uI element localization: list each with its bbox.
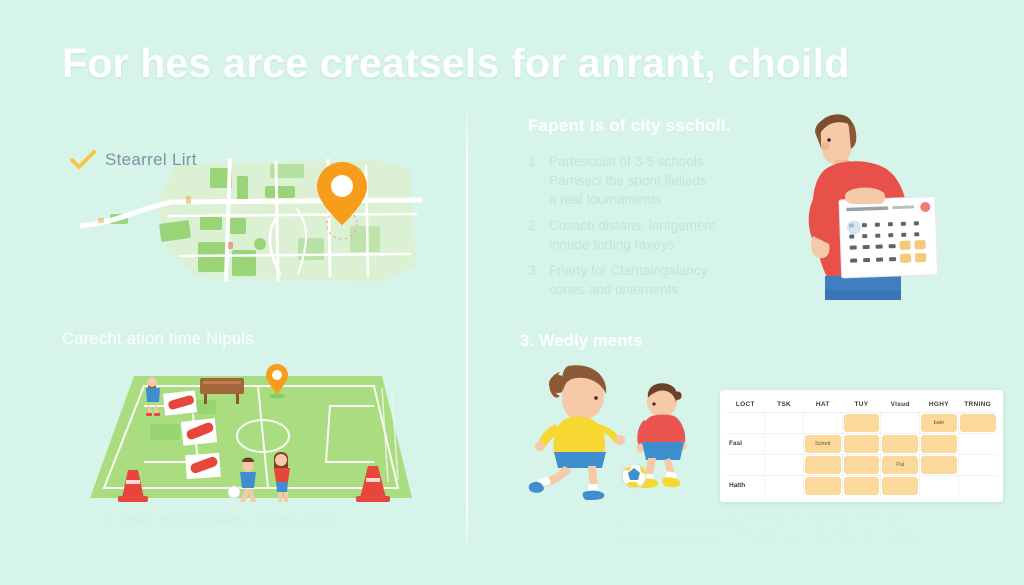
table-cell bbox=[842, 412, 881, 433]
table-body: baleFaslSchettPalHalth bbox=[726, 412, 997, 496]
column-divider bbox=[466, 112, 468, 550]
table-cell bbox=[803, 454, 842, 475]
table-cell: Fasl bbox=[726, 433, 765, 454]
table-header-row: LOCT TSK HAT TUY Visud HGHY TRNING bbox=[726, 397, 997, 412]
cell-block bbox=[921, 435, 957, 453]
table-cell bbox=[765, 475, 804, 496]
schools-panel: Fapent ls of city sscholl. 1. Partescois… bbox=[528, 116, 818, 306]
field-illustration bbox=[82, 362, 412, 502]
list-item: 3 Friarty for Ctantaingalancy cones and … bbox=[528, 261, 818, 299]
table-cell bbox=[726, 412, 765, 433]
table-cell bbox=[726, 454, 765, 475]
list-line: Parnsecl the spont fielleds bbox=[549, 171, 707, 190]
schedule-table-card: LOCT TSK HAT TUY Visud HGHY TRNING baleF… bbox=[720, 390, 1003, 502]
column-header: LOCT bbox=[726, 397, 765, 412]
table-cell bbox=[765, 412, 804, 433]
training-field-panel: Carecht ation time Nipuls bbox=[62, 330, 452, 545]
caption-line: A. Frently off tralking loods and bbox=[730, 510, 990, 527]
kids-illustration bbox=[528, 362, 728, 507]
table-cell bbox=[958, 433, 997, 454]
list-line: a real tournaments bbox=[549, 190, 707, 209]
list-item-number: 1. bbox=[528, 152, 541, 209]
cell-block bbox=[882, 477, 918, 496]
table-cell bbox=[803, 475, 842, 496]
cell-block bbox=[921, 456, 957, 474]
child-figure bbox=[529, 365, 625, 500]
caption-line: tnehablessucc training stimedule bbox=[730, 527, 990, 544]
infographic-canvas: For hes arce creatsels for anrant, choil… bbox=[0, 0, 1024, 585]
cell-block bbox=[805, 456, 841, 474]
table-cell bbox=[842, 433, 881, 454]
list-line: cones and uniernents bbox=[549, 280, 707, 299]
cell-block: bale bbox=[921, 414, 957, 432]
table-cell bbox=[958, 412, 997, 433]
table-cell: Pal bbox=[881, 454, 920, 475]
table-cell bbox=[881, 433, 920, 454]
table-cell: bale bbox=[920, 412, 959, 433]
schools-heading: Fapent ls of city sscholl. bbox=[528, 116, 818, 136]
table-row: Halth bbox=[726, 475, 997, 496]
list-item: 1. Partescoist of 3-5 schools Parnsecl t… bbox=[528, 152, 818, 209]
table-row: bale bbox=[726, 412, 997, 433]
map-panel: Stearrel Lirt bbox=[62, 150, 452, 310]
cell-block bbox=[844, 414, 880, 432]
list-item-number: 3 bbox=[528, 261, 541, 299]
cell-block: Schett bbox=[805, 435, 841, 453]
map-illustration bbox=[80, 156, 430, 292]
table-cell bbox=[920, 454, 959, 475]
cell-block bbox=[805, 477, 841, 496]
list-item-text: Friarty for Ctantaingalancy cones and un… bbox=[549, 261, 707, 299]
cell-block bbox=[882, 435, 918, 453]
list-line: innude torting raveys bbox=[549, 235, 716, 254]
person-with-calendar-illustration bbox=[795, 104, 995, 304]
cell-block bbox=[844, 477, 880, 496]
list-item-number: 2 bbox=[528, 216, 541, 254]
column-header: TSK bbox=[765, 397, 804, 412]
table-row: Pal bbox=[726, 454, 997, 475]
map-header: Stearrel Lirt bbox=[70, 150, 197, 170]
soccer-ball-icon bbox=[622, 464, 646, 488]
table-cell bbox=[920, 433, 959, 454]
table-cell bbox=[803, 412, 842, 433]
list-line: Friarty for Ctantaingalancy bbox=[549, 261, 707, 280]
field-heading: Carecht ation time Nipuls bbox=[62, 330, 452, 349]
table-cell bbox=[881, 412, 920, 433]
schools-list: 1. Partescoist of 3-5 schools Parnsecl t… bbox=[528, 152, 818, 299]
table-cell bbox=[765, 454, 804, 475]
column-header: Visud bbox=[881, 397, 920, 412]
table-cell bbox=[842, 475, 881, 496]
table-cell: Halth bbox=[726, 475, 765, 496]
column-header: TRNING bbox=[958, 397, 997, 412]
cell-block: Pal bbox=[882, 456, 918, 474]
schedule-table: LOCT TSK HAT TUY Visud HGHY TRNING baleF… bbox=[726, 397, 997, 496]
table-cell bbox=[765, 433, 804, 454]
page-title: For hes arce creatsels for anrant, choil… bbox=[62, 40, 972, 87]
list-line: Partescoist of 3-5 schools bbox=[549, 152, 707, 171]
column-header: HAT bbox=[803, 397, 842, 412]
table-cell bbox=[920, 475, 959, 496]
field-caption: 2. Open training fields, and the fings bbox=[104, 512, 336, 528]
table-row: FaslSchett bbox=[726, 433, 997, 454]
cell-block bbox=[844, 435, 880, 453]
weekly-heading: 3. Wedly ments bbox=[520, 332, 990, 351]
weekly-panel: 3. Wedly ments bbox=[520, 332, 990, 547]
column-header: HGHY bbox=[920, 397, 959, 412]
table-cell bbox=[958, 475, 997, 496]
table-cell: Schett bbox=[803, 433, 842, 454]
table-cell bbox=[958, 454, 997, 475]
list-item-text: Partescoist of 3-5 schools Parnsecl the … bbox=[549, 152, 707, 209]
map-label: Stearrel Lirt bbox=[105, 150, 197, 170]
cell-block bbox=[960, 414, 996, 432]
table-cell bbox=[881, 475, 920, 496]
column-header: TUY bbox=[842, 397, 881, 412]
schedule-caption: A. Frently off tralking loods and tnehab… bbox=[730, 510, 990, 544]
table-cell bbox=[842, 454, 881, 475]
check-icon bbox=[70, 150, 96, 170]
list-line: Cosach distans, lantgement bbox=[549, 216, 716, 235]
map-pin-icon bbox=[316, 161, 368, 227]
cell-block bbox=[844, 456, 880, 474]
list-item-text: Cosach distans, lantgement innude tortin… bbox=[549, 216, 716, 254]
list-item: 2 Cosach distans, lantgement innude tort… bbox=[528, 216, 818, 254]
